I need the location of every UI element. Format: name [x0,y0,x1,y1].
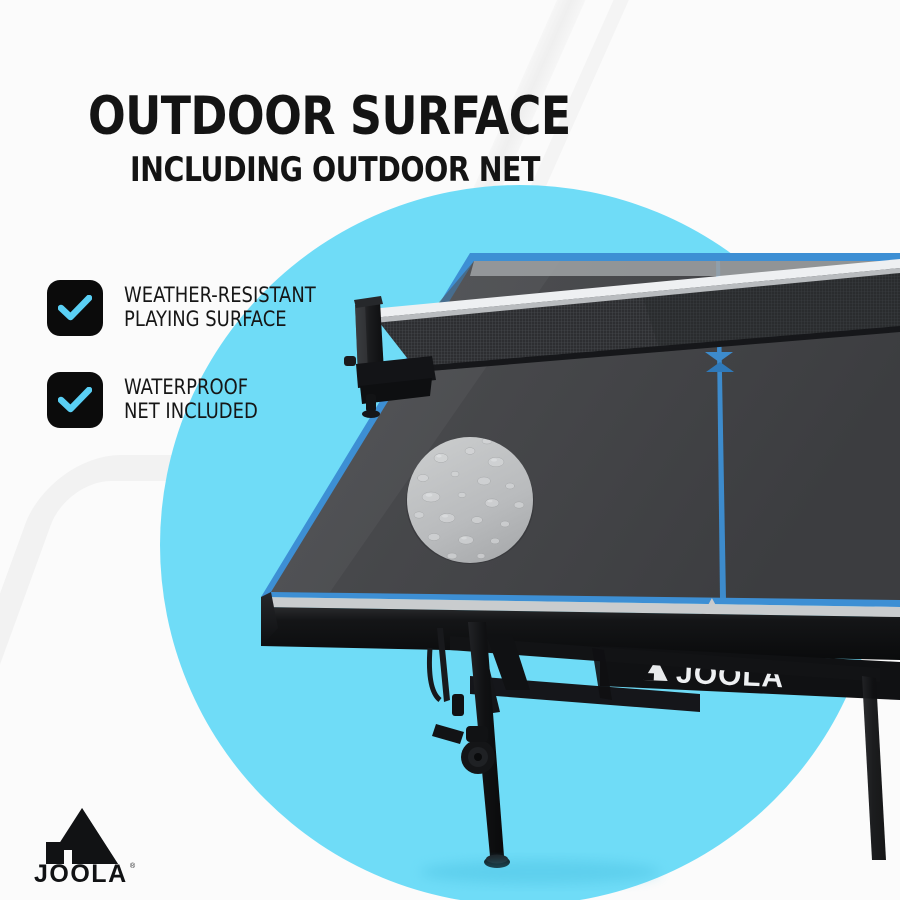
feature-label-line-2: PLAYING SURFACE [124,307,316,331]
checkmark-icon [47,280,103,336]
feature-label-line-1: WATERPROOF [124,375,258,399]
headline-line-1: OUTDOOR SURFACE [88,90,683,144]
feature-label: WATERPROOF NET INCLUDED [124,372,258,423]
product-marketing-image: JOOLA ® [0,0,900,900]
headline-line-2: INCLUDING OUTDOOR NET [130,150,686,190]
feature-item-waterproof-net: WATERPROOF NET INCLUDED [47,372,347,428]
feature-label-line-2: NET INCLUDED [124,399,258,423]
brand-wordmark: JOOLA [34,860,128,884]
feature-label: WEATHER-RESISTANT PLAYING SURFACE [124,280,316,331]
joola-triangle-mark [46,808,118,864]
checkmark-icon [47,372,103,428]
feature-label-line-1: WEATHER-RESISTANT [124,283,316,307]
latch-handle [432,694,464,744]
feature-item-weather-resistant: WEATHER-RESISTANT PLAYING SURFACE [47,280,347,336]
page-title: OUTDOOR SURFACE INCLUDING OUTDOOR NET [88,90,728,190]
feature-list: WEATHER-RESISTANT PLAYING SURFACE WATERP… [47,280,347,464]
brand-trademark: ® [130,862,136,870]
brand-logo: JOOLA ® [26,806,144,884]
